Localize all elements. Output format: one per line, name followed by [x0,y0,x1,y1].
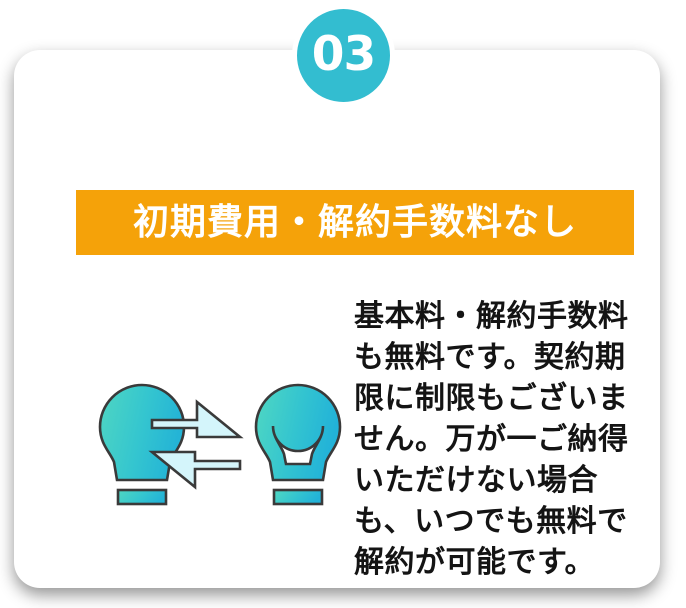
description-line: せん。万が一ご納得 [354,419,636,460]
section-heading-banner: 初期費用・解約手数料なし [76,190,634,255]
feature-card-screenshot: 初期費用・解約手数料なし [0,0,686,608]
filled-lightbulb-shape [100,385,184,504]
description-line: も、いつでも無料で [354,501,636,542]
description-line: いただけない場合 [354,460,636,501]
feature-description: 基本料・解約手数料 も無料です。契約期 限に制限もございま せん。万が一ご納得 … [354,296,636,583]
description-line: 限に制限もございま [354,378,636,419]
description-line: 解約が可能です。 [354,542,636,583]
step-number-text: 03 [312,31,375,80]
description-line: 基本料・解約手数料 [354,296,636,337]
feature-card: 初期費用・解約手数料なし [14,50,660,588]
outline-lightbulb-shape [256,385,340,504]
two-lightbulbs-exchange-icon [52,370,342,530]
section-heading-text: 初期費用・解約手数料なし [133,205,577,241]
description-line: も無料です。契約期 [354,337,636,378]
step-number-badge: 03 [292,4,395,107]
